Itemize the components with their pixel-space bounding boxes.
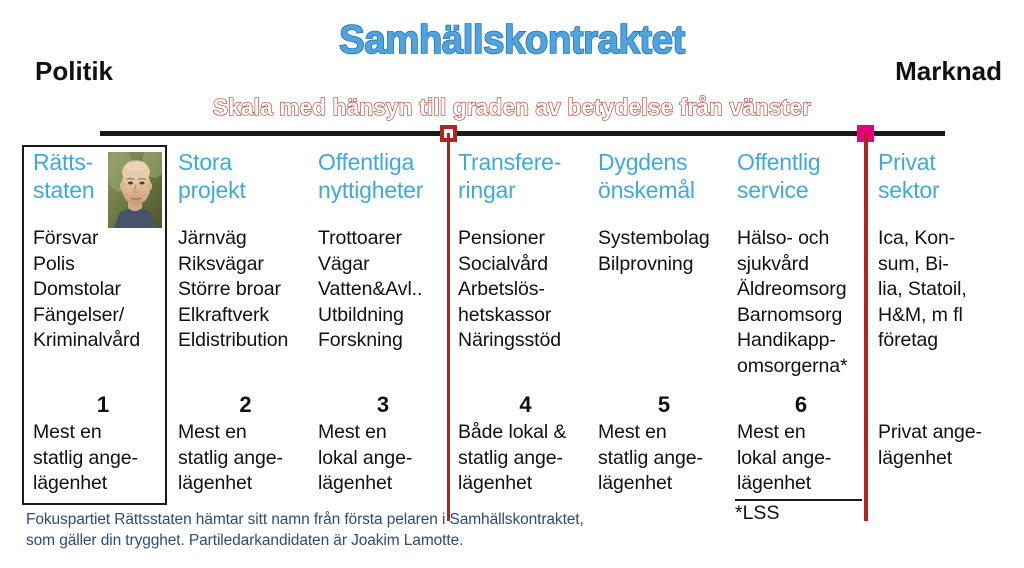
column-number: 5 (598, 394, 730, 416)
column-summary: Privat ange- lägenhet (878, 420, 1013, 471)
column-items: Trottoarer Vägar Vatten&Avl.. Utbildning… (318, 226, 448, 354)
column-heading: Transfere- ringar (458, 148, 593, 208)
scale-axis-line (100, 131, 945, 136)
column-items: Försvar Polis Domstolar Fängelser/ Krimi… (33, 226, 173, 354)
page-title: Samhällskontraktet (20, 20, 1003, 60)
column-offentlig-service[interactable]: Offentlig service Hälso- och sjukvård Äl… (737, 148, 865, 208)
column-summary: Mest en lokal ange- lägenhet (318, 420, 448, 497)
column-heading: Privat sektor (878, 148, 1013, 208)
column-privat-sektor[interactable]: Privat sektor Ica, Kon- sum, Bi- lia, St… (878, 148, 1013, 208)
column-number: 2 (178, 394, 313, 416)
column-offentliga-nyttigheter[interactable]: Offentliga nyttigheter Trottoarer Vägar … (318, 148, 448, 208)
axis-label-politik: Politik (35, 58, 113, 84)
column-transfereringar[interactable]: Transfere- ringar Pensioner Socialvård A… (458, 148, 593, 208)
column-heading: Stora projekt (178, 148, 313, 208)
column-dygdens-onskemal[interactable]: Dygdens önskemål Systembolag Bilprovning… (598, 148, 730, 208)
column-summary: Både lokal & statlig ange- lägenhet (458, 420, 593, 497)
column-items: Hälso- och sjukvård Äldreomsorg Barnomso… (737, 226, 865, 379)
axis-label-marknad: Marknad (895, 58, 1002, 84)
column-items: Systembolag Bilprovning (598, 226, 730, 277)
scale-caption: Skala med hänsyn till graden av betydels… (10, 96, 1014, 119)
column-summary: Mest en statlig ange- lägenhet (178, 420, 313, 497)
column-items: Ica, Kon- sum, Bi- lia, Statoil, H&M, m … (878, 226, 1013, 354)
column-summary: Mest en statlig ange- lägenhet (33, 420, 173, 497)
column-number: 1 (33, 394, 173, 416)
column-items: Järnväg Riksvägar Större broar Elkraftve… (178, 226, 313, 354)
infographic-root: Samhällskontraktet Politik Marknad Skala… (0, 0, 1024, 568)
column-number: 6 (737, 394, 865, 416)
column-stora-projekt[interactable]: Stora projekt Järnväg Riksvägar Större b… (178, 148, 313, 208)
column-number: 3 (318, 394, 448, 416)
column-heading: Offentliga nyttigheter (318, 148, 448, 208)
column-number: 4 (458, 394, 593, 416)
column-heading: Offentlig service (737, 148, 865, 208)
column-heading: Dygdens önskemål (598, 148, 730, 208)
column-items: Pensioner Socialvård Arbetslös- hetskass… (458, 226, 593, 354)
column-summary: Mest en lokal ange- lägenhet (737, 420, 865, 497)
portrait-photo (108, 152, 162, 228)
column-summary: Mest en statlig ange- lägenhet (598, 420, 730, 497)
footer-text: Fokuspartiet Rättsstaten hämtar sitt nam… (26, 509, 786, 551)
